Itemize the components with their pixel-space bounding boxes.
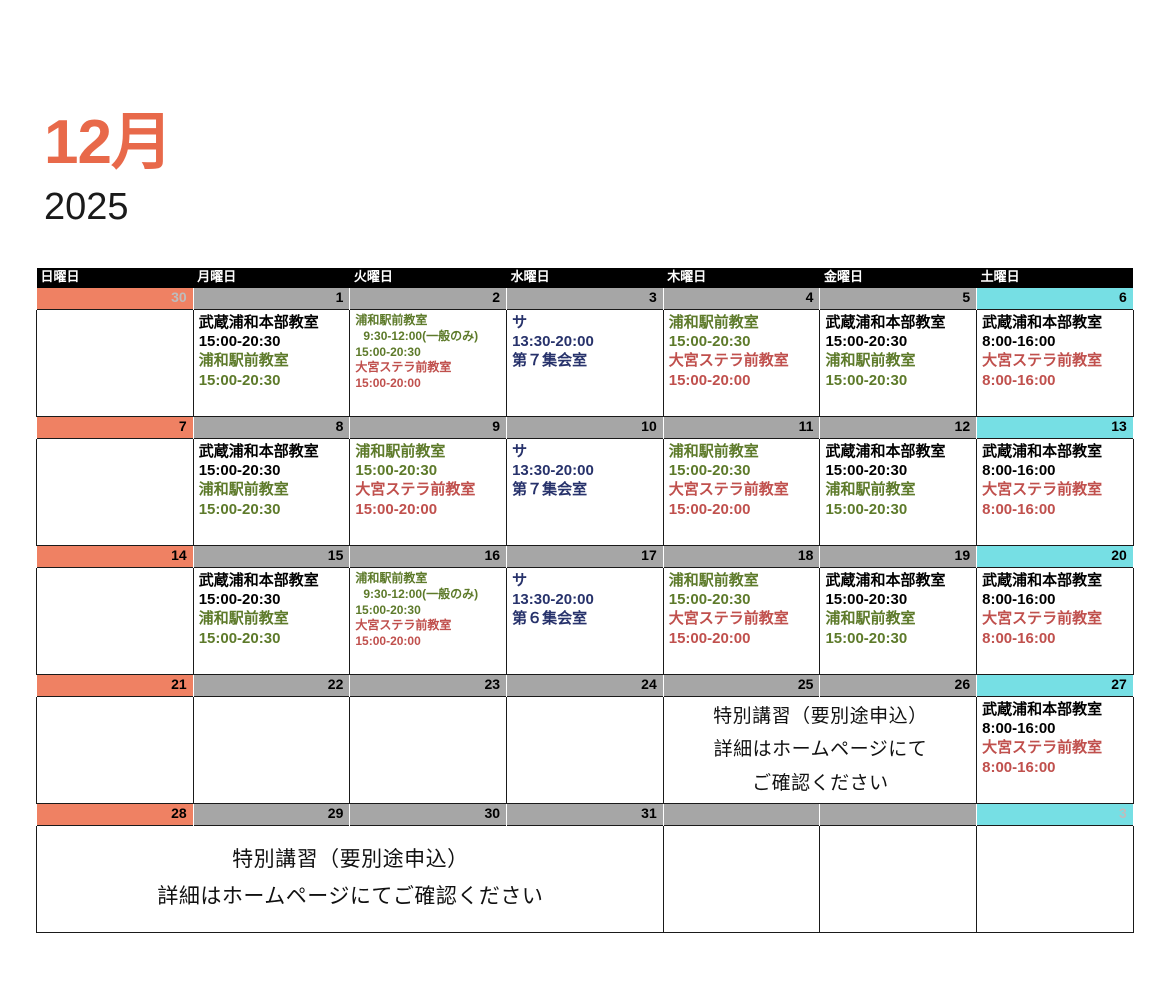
- schedule-line: 大宮ステラ前教室: [982, 351, 1129, 370]
- date-number[interactable]: 13: [977, 417, 1134, 439]
- weekday-header-monday: 月曜日: [193, 268, 350, 288]
- date-number[interactable]: 23: [350, 675, 507, 697]
- day-cell-empty[interactable]: [37, 568, 194, 675]
- day-cell-schedule[interactable]: 浦和駅前教室15:00-20:30大宮ステラ前教室15:00-20:00: [663, 439, 820, 546]
- schedule-line: 大宮ステラ前教室: [982, 738, 1129, 757]
- schedule-line: 15:00-20:30: [355, 345, 502, 361]
- day-cell-schedule[interactable]: 武蔵浦和本部教室15:00-20:30浦和駅前教室15:00-20:30: [820, 568, 977, 675]
- date-number[interactable]: 29: [193, 804, 350, 826]
- day-cell-schedule[interactable]: サ13:30-20:00第７集会室: [507, 439, 664, 546]
- date-number-row: 282930313: [37, 804, 1134, 826]
- schedule-line: 15:00-20:00: [355, 500, 502, 519]
- date-number[interactable]: 25: [663, 675, 820, 697]
- schedule-line: 13:30-20:00: [512, 461, 659, 480]
- day-cell-schedule[interactable]: 武蔵浦和本部教室8:00-16:00大宮ステラ前教室8:00-16:00: [977, 439, 1134, 546]
- date-number[interactable]: 21: [37, 675, 194, 697]
- special-course-note-line: 詳細はホームページにてご確認ください: [42, 879, 659, 916]
- weekday-header-friday: 金曜日: [820, 268, 977, 288]
- schedule-line: 大宮ステラ前教室: [669, 351, 816, 370]
- date-number[interactable]: 28: [37, 804, 194, 826]
- schedule-line: 浦和駅前教室: [825, 609, 972, 628]
- day-cell-schedule[interactable]: 武蔵浦和本部教室15:00-20:30浦和駅前教室15:00-20:30: [193, 310, 350, 417]
- schedule-line: 浦和駅前教室: [199, 480, 346, 499]
- special-course-note-line: 特別講習（要別途申込）: [42, 842, 659, 879]
- schedule-line: 15:00-20:30: [825, 371, 972, 390]
- schedule-line: 15:00-20:00: [669, 629, 816, 648]
- schedule-line: 浦和駅前教室: [825, 480, 972, 499]
- schedule-line: 15:00-20:30: [825, 461, 972, 480]
- day-cell-empty[interactable]: [37, 697, 194, 804]
- schedule-line: サ: [512, 442, 659, 461]
- day-cell-schedule[interactable]: 浦和駅前教室15:00-20:30大宮ステラ前教室15:00-20:00: [663, 310, 820, 417]
- event-row: 武蔵浦和本部教室15:00-20:30浦和駅前教室15:00-20:30浦和駅前…: [37, 568, 1134, 675]
- schedule-line: 武蔵浦和本部教室: [982, 313, 1129, 332]
- schedule-line: 武蔵浦和本部教室: [825, 442, 972, 461]
- date-number[interactable]: 20: [977, 546, 1134, 568]
- schedule-line: 武蔵浦和本部教室: [825, 571, 972, 590]
- day-cell-empty[interactable]: [507, 697, 664, 804]
- weekday-header-thursday: 木曜日: [663, 268, 820, 288]
- date-number[interactable]: 22: [193, 675, 350, 697]
- day-cell-empty[interactable]: [977, 826, 1134, 933]
- schedule-line: 15:00-20:00: [669, 371, 816, 390]
- page-title-year: 2025: [44, 188, 172, 226]
- day-cell-schedule[interactable]: 浦和駅前教室9:30-12:00(一般のみ)15:00-20:30大宮ステラ前教…: [350, 310, 507, 417]
- schedule-line: サ: [512, 313, 659, 332]
- schedule-line: 15:00-20:30: [199, 371, 346, 390]
- schedule-line: 13:30-20:00: [512, 332, 659, 351]
- date-number[interactable]: 10: [507, 417, 664, 439]
- day-cell-schedule[interactable]: 武蔵浦和本部教室8:00-16:00大宮ステラ前教室8:00-16:00: [977, 310, 1134, 417]
- day-cell-schedule[interactable]: 武蔵浦和本部教室15:00-20:30浦和駅前教室15:00-20:30: [820, 310, 977, 417]
- page-title-month: 12月: [44, 112, 172, 174]
- weekday-header-tuesday: 火曜日: [350, 268, 507, 288]
- schedule-line: 15:00-20:30: [199, 500, 346, 519]
- schedule-line: 8:00-16:00: [982, 500, 1129, 519]
- date-number[interactable]: 8: [193, 417, 350, 439]
- schedule-line: 大宮ステラ前教室: [355, 480, 502, 499]
- date-number[interactable]: 4: [663, 288, 820, 310]
- schedule-line: 15:00-20:30: [669, 590, 816, 609]
- schedule-line: 15:00-20:30: [199, 629, 346, 648]
- schedule-line: 8:00-16:00: [982, 758, 1129, 777]
- date-number[interactable]: 16: [350, 546, 507, 568]
- schedule-line: 浦和駅前教室: [199, 609, 346, 628]
- schedule-line: 浦和駅前教室: [199, 351, 346, 370]
- special-course-note-line: 詳細はホームページにて: [669, 733, 972, 766]
- schedule-line: 第７集会室: [512, 351, 659, 370]
- schedule-line: 15:00-20:30: [825, 332, 972, 351]
- schedule-line: サ: [512, 571, 659, 590]
- schedule-line: 大宮ステラ前教室: [669, 480, 816, 499]
- schedule-line: 15:00-20:30: [825, 590, 972, 609]
- date-number[interactable]: 27: [977, 675, 1134, 697]
- date-number[interactable]: 5: [820, 288, 977, 310]
- schedule-line: 武蔵浦和本部教室: [982, 700, 1129, 719]
- schedule-line: 15:00-20:30: [199, 461, 346, 480]
- event-row: 特別講習（要別途申込）詳細はホームページにてご確認ください武蔵浦和本部教室8:0…: [37, 697, 1134, 804]
- weekday-header-sunday: 日曜日: [37, 268, 194, 288]
- date-number[interactable]: 3: [977, 804, 1134, 826]
- date-cell-blank: [820, 804, 977, 826]
- schedule-line: 大宮ステラ前教室: [982, 609, 1129, 628]
- schedule-line: 8:00-16:00: [982, 629, 1129, 648]
- date-number-row: 21222324252627: [37, 675, 1134, 697]
- schedule-line: 15:00-20:00: [355, 634, 502, 650]
- schedule-line: 15:00-20:30: [199, 590, 346, 609]
- special-course-note[interactable]: 特別講習（要別途申込）詳細はホームページにてご確認ください: [37, 826, 664, 933]
- date-cell-blank: [663, 804, 820, 826]
- calendar-page: 12月 2025 日曜日 月曜日 火曜日 水曜日 木曜日 金曜日 土曜日 301…: [0, 0, 1170, 986]
- date-number[interactable]: 24: [507, 675, 664, 697]
- day-cell-empty[interactable]: [37, 310, 194, 417]
- date-number[interactable]: 30: [350, 804, 507, 826]
- day-cell-schedule[interactable]: 武蔵浦和本部教室15:00-20:30浦和駅前教室15:00-20:30: [193, 439, 350, 546]
- schedule-line: 武蔵浦和本部教室: [825, 313, 972, 332]
- schedule-line: 大宮ステラ前教室: [355, 618, 502, 634]
- event-row: 武蔵浦和本部教室15:00-20:30浦和駅前教室15:00-20:30浦和駅前…: [37, 439, 1134, 546]
- day-cell-schedule[interactable]: 浦和駅前教室15:00-20:30大宮ステラ前教室15:00-20:00: [350, 439, 507, 546]
- schedule-line: 浦和駅前教室: [669, 442, 816, 461]
- schedule-line: 15:00-20:00: [669, 500, 816, 519]
- schedule-line: 浦和駅前教室: [825, 351, 972, 370]
- schedule-line: 9:30-12:00(一般のみ): [355, 329, 502, 345]
- calendar-table: 日曜日 月曜日 火曜日 水曜日 木曜日 金曜日 土曜日 30123456武蔵浦和…: [36, 268, 1134, 933]
- special-course-note-line: ご確認ください: [669, 767, 972, 800]
- day-cell-schedule[interactable]: 武蔵浦和本部教室8:00-16:00大宮ステラ前教室8:00-16:00: [977, 568, 1134, 675]
- date-number-row: 30123456: [37, 288, 1134, 310]
- date-number[interactable]: 30: [37, 288, 194, 310]
- schedule-line: 15:00-20:30: [355, 603, 502, 619]
- day-cell-schedule[interactable]: 武蔵浦和本部教室15:00-20:30浦和駅前教室15:00-20:30: [820, 439, 977, 546]
- schedule-line: 武蔵浦和本部教室: [199, 313, 346, 332]
- schedule-line: 15:00-20:30: [825, 629, 972, 648]
- schedule-line: 浦和駅前教室: [669, 571, 816, 590]
- schedule-line: 大宮ステラ前教室: [355, 360, 502, 376]
- schedule-line: 大宮ステラ前教室: [669, 609, 816, 628]
- schedule-line: 武蔵浦和本部教室: [982, 442, 1129, 461]
- date-number[interactable]: 9: [350, 417, 507, 439]
- day-cell-empty[interactable]: [193, 697, 350, 804]
- schedule-line: 浦和駅前教室: [355, 571, 502, 587]
- day-cell-schedule[interactable]: 武蔵浦和本部教室8:00-16:00大宮ステラ前教室8:00-16:00: [977, 697, 1134, 804]
- date-number[interactable]: 11: [663, 417, 820, 439]
- schedule-line: 武蔵浦和本部教室: [199, 571, 346, 590]
- weekday-header-saturday: 土曜日: [977, 268, 1134, 288]
- schedule-line: 武蔵浦和本部教室: [982, 571, 1129, 590]
- event-row: 武蔵浦和本部教室15:00-20:30浦和駅前教室15:00-20:30浦和駅前…: [37, 310, 1134, 417]
- schedule-line: 13:30-20:00: [512, 590, 659, 609]
- date-number[interactable]: 31: [507, 804, 664, 826]
- schedule-line: 15:00-20:00: [355, 376, 502, 392]
- day-cell-schedule[interactable]: サ13:30-20:00第６集会室: [507, 568, 664, 675]
- schedule-line: 浦和駅前教室: [669, 313, 816, 332]
- special-course-note[interactable]: 特別講習（要別途申込）詳細はホームページにてご確認ください: [663, 697, 976, 804]
- schedule-line: 8:00-16:00: [982, 332, 1129, 351]
- weekday-header-row: 日曜日 月曜日 火曜日 水曜日 木曜日 金曜日 土曜日: [37, 268, 1134, 288]
- schedule-line: 第６集会室: [512, 609, 659, 628]
- special-course-note-line: 特別講習（要別途申込）: [669, 700, 972, 733]
- day-cell-schedule[interactable]: 浦和駅前教室9:30-12:00(一般のみ)15:00-20:30大宮ステラ前教…: [350, 568, 507, 675]
- schedule-line: 8:00-16:00: [982, 371, 1129, 390]
- date-number-row: 78910111213: [37, 417, 1134, 439]
- schedule-line: 15:00-20:30: [355, 461, 502, 480]
- schedule-line: 8:00-16:00: [982, 461, 1129, 480]
- day-cell-schedule[interactable]: サ13:30-20:00第７集会室: [507, 310, 664, 417]
- date-number[interactable]: 14: [37, 546, 194, 568]
- date-number[interactable]: 15: [193, 546, 350, 568]
- schedule-line: 浦和駅前教室: [355, 313, 502, 329]
- schedule-line: 武蔵浦和本部教室: [199, 442, 346, 461]
- calendar-body: 30123456武蔵浦和本部教室15:00-20:30浦和駅前教室15:00-2…: [37, 288, 1134, 933]
- date-number[interactable]: 12: [820, 417, 977, 439]
- event-row: 特別講習（要別途申込）詳細はホームページにてご確認ください: [37, 826, 1134, 933]
- date-number[interactable]: 1: [193, 288, 350, 310]
- day-cell-empty[interactable]: [820, 826, 977, 933]
- day-cell-schedule[interactable]: 武蔵浦和本部教室15:00-20:30浦和駅前教室15:00-20:30: [193, 568, 350, 675]
- date-number[interactable]: 3: [507, 288, 664, 310]
- schedule-line: 9:30-12:00(一般のみ): [355, 587, 502, 603]
- schedule-line: 第７集会室: [512, 480, 659, 499]
- date-number-row: 14151617181920: [37, 546, 1134, 568]
- date-number[interactable]: 26: [820, 675, 977, 697]
- date-number[interactable]: 17: [507, 546, 664, 568]
- weekday-header-wednesday: 水曜日: [507, 268, 664, 288]
- schedule-line: 大宮ステラ前教室: [982, 480, 1129, 499]
- day-cell-schedule[interactable]: 浦和駅前教室15:00-20:30大宮ステラ前教室15:00-20:00: [663, 568, 820, 675]
- schedule-line: 15:00-20:30: [669, 332, 816, 351]
- date-number[interactable]: 2: [350, 288, 507, 310]
- day-cell-empty[interactable]: [37, 439, 194, 546]
- date-number[interactable]: 7: [37, 417, 194, 439]
- schedule-line: 15:00-20:30: [825, 500, 972, 519]
- schedule-line: 15:00-20:30: [199, 332, 346, 351]
- title-block: 12月 2025: [44, 112, 172, 226]
- schedule-line: 8:00-16:00: [982, 590, 1129, 609]
- schedule-line: 8:00-16:00: [982, 719, 1129, 738]
- day-cell-empty[interactable]: [350, 697, 507, 804]
- day-cell-empty[interactable]: [663, 826, 820, 933]
- date-number[interactable]: 19: [820, 546, 977, 568]
- schedule-line: 浦和駅前教室: [355, 442, 502, 461]
- date-number[interactable]: 18: [663, 546, 820, 568]
- schedule-line: 15:00-20:30: [669, 461, 816, 480]
- date-number[interactable]: 6: [977, 288, 1134, 310]
